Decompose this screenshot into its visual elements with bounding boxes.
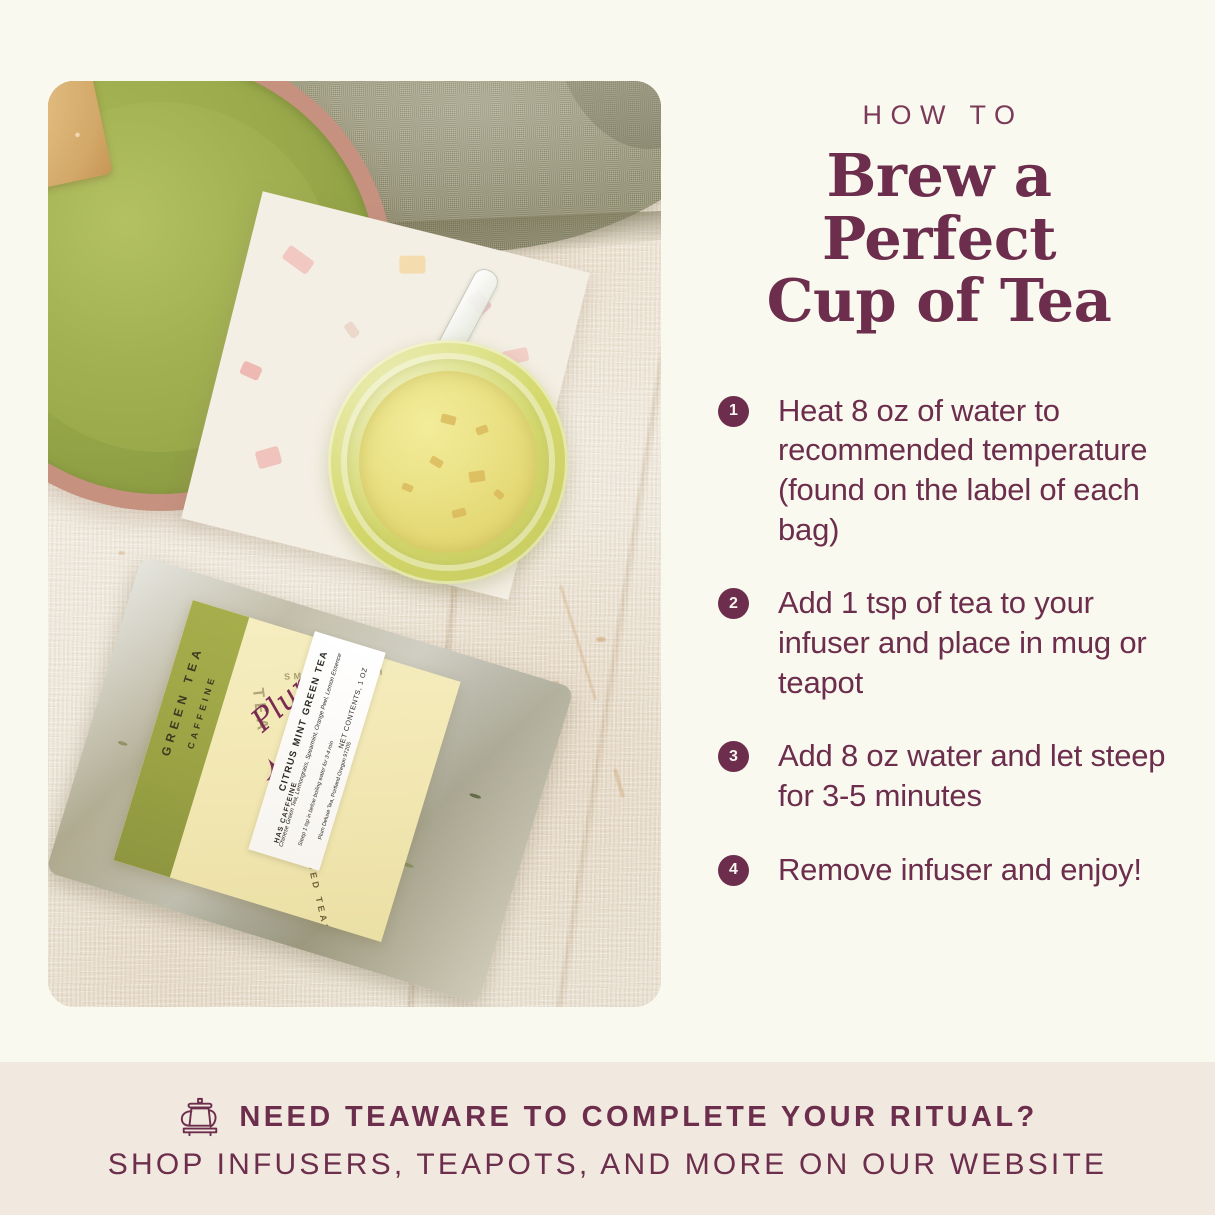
kicker-label: HOW TO xyxy=(706,100,1172,131)
tea-particle xyxy=(493,489,505,501)
cup-glass xyxy=(328,340,568,584)
footer-headline: NEED TEAWARE TO COMPLETE YOUR RITUAL? xyxy=(239,1101,1037,1134)
step-text: Remove infuser and enjoy! xyxy=(778,850,1142,890)
terrazzo-chip xyxy=(399,256,425,274)
hero-photo: GREEN TEA CAFFEINE TEA SMALL BATCH Plum … xyxy=(48,81,661,1007)
terrazzo-chip xyxy=(343,321,360,340)
tea-pouch: GREEN TEA CAFFEINE TEA SMALL BATCH Plum … xyxy=(84,585,554,985)
title-line-2: Cup of Tea xyxy=(767,266,1112,335)
step-number-badge: 2 xyxy=(718,588,749,619)
glass-teacup xyxy=(328,340,568,584)
steps-list: 1 Heat 8 oz of water to recommended temp… xyxy=(706,391,1172,890)
tea-particle xyxy=(440,413,457,425)
brewed-tea xyxy=(359,371,537,553)
sticker-steep-note: Steep 1 tsp in below boiling water for 3… xyxy=(298,740,336,847)
step-text: Add 1 tsp of tea to your infuser and pla… xyxy=(778,583,1172,702)
title-line-1: Brew a Perfect xyxy=(822,141,1056,273)
teapot-icon xyxy=(177,1096,223,1140)
napkin-fold xyxy=(545,81,661,161)
tea-particle xyxy=(401,482,414,493)
footer-headline-row: NEED TEAWARE TO COMPLETE YOUR RITUAL? xyxy=(177,1096,1037,1140)
tea-particle xyxy=(429,456,444,469)
step-number-badge: 3 xyxy=(718,741,749,772)
infographic-root: GREEN TEA CAFFEINE TEA SMALL BATCH Plum … xyxy=(0,0,1215,1215)
step-number-badge: 1 xyxy=(718,396,749,427)
step-text: Heat 8 oz of water to recommended temper… xyxy=(778,391,1172,550)
terrazzo-chip xyxy=(239,360,263,381)
terrazzo-chip xyxy=(254,446,282,470)
tea-particle xyxy=(469,470,486,483)
instructions-column: HOW TO Brew a Perfect Cup of Tea 1 Heat … xyxy=(706,100,1172,923)
list-item: 1 Heat 8 oz of water to recommended temp… xyxy=(706,391,1172,550)
list-item: 2 Add 1 tsp of tea to your infuser and p… xyxy=(706,583,1172,702)
table-fleck xyxy=(118,551,125,555)
terrazzo-chip xyxy=(281,245,315,276)
page-title: Brew a Perfect Cup of Tea xyxy=(706,145,1172,333)
list-item: 3 Add 8 oz water and let steep for 3-5 m… xyxy=(706,736,1172,815)
footer-subline: SHOP INFUSERS, TEAPOTS, AND MORE ON OUR … xyxy=(108,1148,1107,1182)
footer-cta-band[interactable]: NEED TEAWARE TO COMPLETE YOUR RITUAL? SH… xyxy=(0,1062,1215,1215)
step-text: Add 8 oz water and let steep for 3-5 min… xyxy=(778,736,1172,815)
table-fleck xyxy=(596,637,606,642)
tea-particle xyxy=(475,424,489,436)
tea-particle xyxy=(451,508,467,519)
step-number-badge: 4 xyxy=(718,855,749,886)
list-item: 4 Remove infuser and enjoy! xyxy=(706,850,1172,890)
